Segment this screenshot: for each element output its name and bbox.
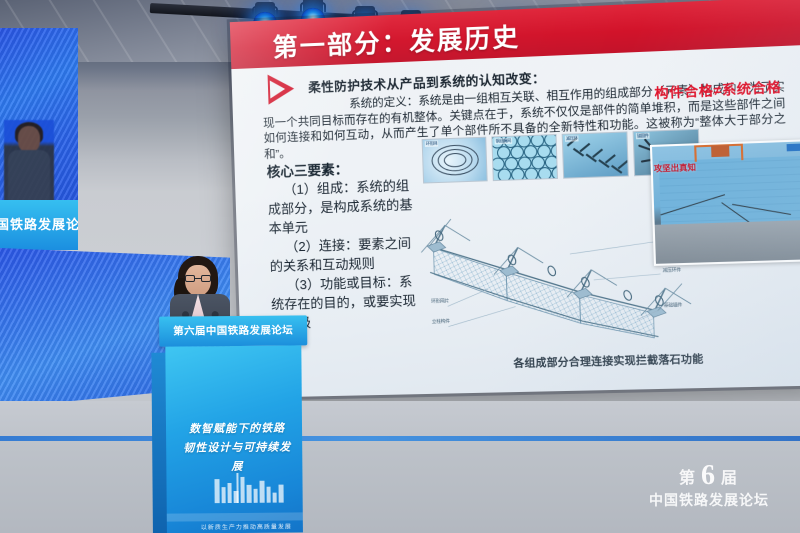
floor-edge-strip	[0, 436, 800, 441]
skyline-bar	[222, 487, 226, 503]
photo-tag	[787, 143, 800, 151]
skyline-bar	[228, 483, 232, 503]
list-item: （2）连接：要素之间的关系和互动规则	[269, 233, 424, 276]
photo-label: 环形网	[425, 140, 439, 147]
slide-caption: 各组成部分合理连接实现拦截落石功能	[513, 351, 704, 371]
field-test-photo: 攻坚出真知	[650, 139, 800, 266]
skyline-graphic	[214, 473, 286, 504]
photo-label: 减压环	[565, 135, 579, 142]
diagram-label: 环形网片	[431, 298, 449, 305]
podium-front-panel: 数智赋能下的铁路 韧性设计与可持续发展 以新质生产力推动高质量发展	[165, 345, 303, 533]
crane-load-box	[711, 145, 729, 157]
skyline-bar	[240, 477, 244, 503]
glasses-icon	[185, 275, 211, 282]
brake-element	[579, 143, 590, 152]
component-photo-ring-net: 环形网	[422, 137, 488, 184]
core-elements-list: （1）组成：系统的组成部分，是构成系统的基本单元 （2）连接：要素之间的关系和互…	[267, 176, 426, 334]
side-screen-band-text: 中国铁路发展论坛	[0, 214, 78, 233]
skyline-bar	[273, 493, 277, 503]
mesh-cell	[498, 168, 512, 181]
brake-element	[618, 160, 629, 169]
core-elements-title: 核心三要素：	[266, 158, 348, 181]
skyline-bar	[254, 489, 258, 503]
mesh-cell	[511, 168, 525, 181]
skyline-bar	[247, 485, 252, 503]
watermark-prefix: 第	[679, 464, 697, 488]
brake-element	[605, 154, 616, 163]
photo-label: 锚固件	[636, 133, 650, 140]
skyline-bar	[259, 481, 264, 503]
podium-banner-text: 第六届中国铁路发展论坛	[173, 322, 293, 338]
watermark-subtitle: 中国铁路发展论坛	[634, 490, 784, 510]
presentation-screen: 第一部分：发展历史 柔性防护技术从产品到系统的认知改变： 系统的定义：系统是由一…	[230, 0, 800, 398]
component-photo-wire-mesh: 钢丝绳网	[491, 134, 558, 181]
skyline-bar	[279, 485, 284, 503]
diagram-label: 减压环件	[662, 267, 681, 274]
feed-speaker-head	[18, 126, 40, 152]
component-photo-brake-ring: 减压环	[562, 131, 629, 178]
calligraphy-line-1: 数智赋能下的铁路	[182, 419, 292, 439]
mesh-cell	[524, 167, 538, 181]
skyline-bar	[267, 487, 271, 503]
podium-top: 第六届中国铁路发展论坛	[159, 315, 307, 346]
podium: 第六届中国铁路发展论坛 数智赋能下的铁路 韧性设计与可持续发展 以新质生产力推动…	[159, 315, 309, 533]
calligraphy-line-2: 韧性设计与可持续发展	[182, 438, 292, 477]
mesh-cell	[538, 167, 552, 181]
conference-scene: 中国铁路发展论坛 第一部分：发展历史 柔性防护技术从产品到系统的认知改变： 系统…	[0, 0, 800, 533]
test-ground	[655, 220, 800, 264]
watermark-suffix: 届	[721, 464, 739, 488]
mesh-cell	[551, 166, 558, 180]
skyline-bar	[214, 479, 219, 503]
watermark-numeral: 6	[701, 463, 717, 488]
podium-foot-text: 以新质生产力推动高质量发展	[201, 521, 292, 531]
test-photo-red-label: 攻坚出真知	[654, 162, 697, 175]
podium-foot-line	[167, 512, 303, 521]
photo-label: 钢丝绳网	[494, 138, 512, 145]
side-led-screen: 中国铁路发展论坛	[0, 28, 78, 250]
watermark-line-1: 第 6 届	[634, 463, 784, 488]
diagram-label: 基础锚件	[664, 302, 683, 309]
list-item: （1）组成：系统的组成部分，是构成系统的基本单元	[267, 176, 423, 238]
podium-calligraphy: 数智赋能下的铁路 韧性设计与可持续发展	[182, 419, 292, 477]
side-screen-band: 中国铁路发展论坛	[0, 200, 78, 250]
event-watermark-logo: 第 6 届 中国铁路发展论坛	[634, 463, 784, 525]
diagram-label: 立柱构件	[432, 318, 450, 325]
tower-spire	[236, 473, 238, 503]
brake-element	[592, 149, 603, 158]
